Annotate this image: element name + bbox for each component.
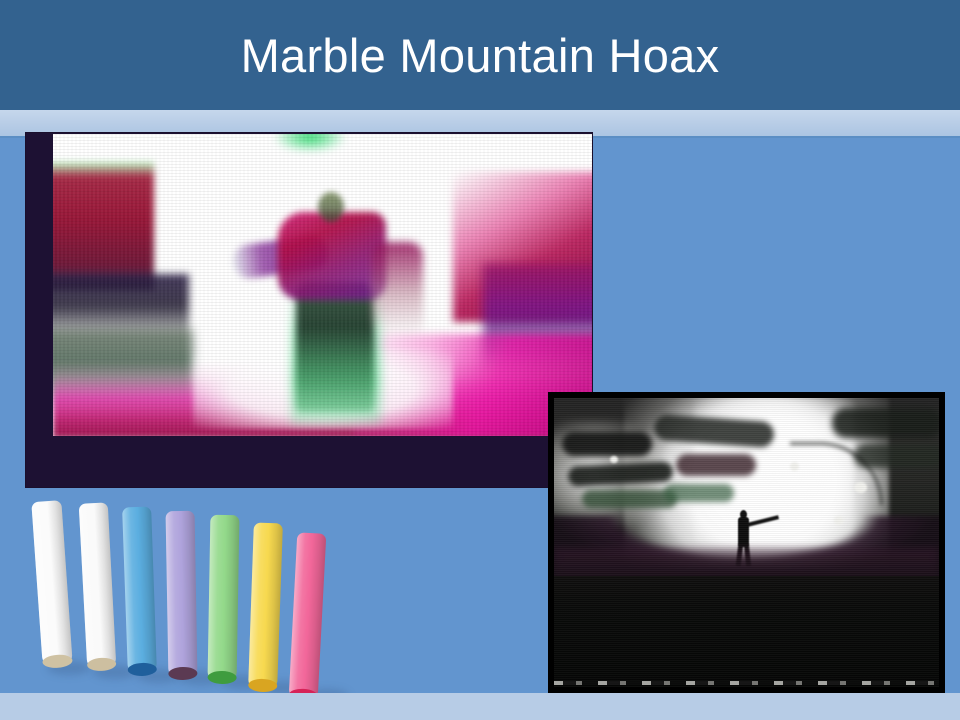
photo-secondary-image [554, 398, 939, 687]
chalk-stick-pink [289, 532, 327, 699]
chalk-shading [248, 523, 283, 690]
chalk-stick-green [208, 515, 240, 681]
chalk-shading [289, 532, 327, 699]
chalk-shading [31, 500, 72, 666]
chalk-stick-white-2 [79, 502, 117, 668]
photo-secondary-frame [548, 392, 945, 693]
chalk-stick-yellow [248, 523, 283, 690]
chalk-end-cap [248, 678, 277, 692]
photo-secondary-tape-artifact [554, 681, 939, 685]
photo-primary-image [53, 134, 592, 436]
photo-primary-scanlines [53, 134, 592, 436]
chalk-stick-white-1 [31, 500, 72, 666]
presentation-slide: Marble Mountain Hoax [0, 0, 960, 720]
photo-chalk [25, 493, 347, 693]
chalk-shading [122, 507, 157, 674]
slide-title: Marble Mountain Hoax [0, 29, 960, 83]
chalk-shading [166, 511, 198, 677]
chalk-end-cap [208, 671, 237, 685]
chalk-shading [79, 502, 117, 668]
photo-secondary-scanlines [554, 398, 939, 687]
photo-primary-frame [26, 133, 592, 487]
slide-footer-band [0, 693, 960, 720]
chalk-shading [208, 515, 240, 681]
chalk-stick-lavender [166, 511, 198, 677]
chalk-stick-blue [122, 507, 157, 674]
